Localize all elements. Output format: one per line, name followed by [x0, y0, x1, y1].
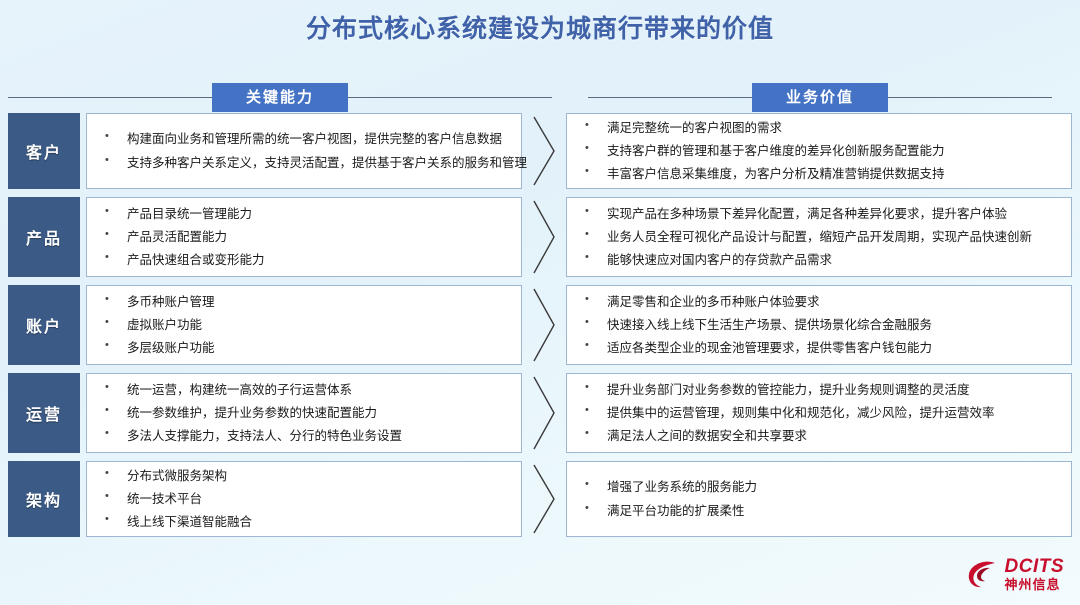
list-item: 产品目录统一管理能力 — [97, 205, 511, 223]
table-row: 产品 产品目录统一管理能力 产品灵活配置能力 产品快速组合或变形能力 实现产品在… — [0, 197, 1080, 277]
list-item: 分布式微服务架构 — [97, 467, 511, 485]
list-item: 产品灵活配置能力 — [97, 228, 511, 246]
chevron-right-icon — [522, 113, 566, 189]
logo-chinese-name: 神州信息 — [1005, 578, 1065, 591]
page-title: 分布式核心系统建设为城商行带来的价值 — [0, 0, 1080, 44]
list-item: 多法人支撑能力，支持法人、分行的特色业务设置 — [97, 427, 511, 445]
row-label-operations: 运营 — [8, 373, 80, 453]
list-item: 增强了业务系统的服务能力 — [577, 478, 1061, 496]
table-row: 运营 统一运营，构建统一高效的子行运营体系 统一参数维护，提升业务参数的快速配置… — [0, 373, 1080, 453]
value-box-account: 满足零售和企业的多币种账户体验要求 快速接入线上线下生活生产场景、提供场景化综合… — [566, 285, 1072, 365]
list-item: 统一参数维护，提升业务参数的快速配置能力 — [97, 404, 511, 422]
logo-wordmark: DCITS 神州信息 — [1005, 557, 1065, 591]
list-item: 提供集中的运营管理，规则集中化和规范化，减少风险，提升运营效率 — [577, 404, 1061, 422]
header-tab-key-capabilities: 关键能力 — [212, 83, 348, 112]
row-label-product: 产品 — [8, 197, 80, 277]
right-column-header: 业务价值 — [560, 82, 1080, 112]
dcits-swirl-icon — [965, 557, 999, 591]
list-item: 业务人员全程可视化产品设计与配置，缩短产品开发周期，实现产品快速创新 — [577, 228, 1061, 246]
capability-box-account: 多币种账户管理 虚拟账户功能 多层级账户功能 — [86, 285, 522, 365]
capability-box-architecture: 分布式微服务架构 统一技术平台 线上线下渠道智能融合 — [86, 461, 522, 537]
company-logo: DCITS 神州信息 — [965, 557, 1065, 591]
value-box-operations: 提升业务部门对业务参数的管控能力，提升业务规则调整的灵活度 提供集中的运营管理，… — [566, 373, 1072, 453]
list-item: 快速接入线上线下生活生产场景、提供场景化综合金融服务 — [577, 316, 1061, 334]
value-list: 实现产品在多种场景下差异化配置，满足各种差异化要求，提升客户体验 业务人员全程可… — [577, 200, 1061, 274]
list-item: 虚拟账户功能 — [97, 316, 511, 334]
chevron-right-icon — [522, 461, 566, 537]
value-box-product: 实现产品在多种场景下差异化配置，满足各种差异化要求，提升客户体验 业务人员全程可… — [566, 197, 1072, 277]
value-list: 满足完整统一的客户视图的需求 支持客户群的管理和基于客户维度的差异化创新服务配置… — [577, 114, 1061, 188]
list-item: 统一运营，构建统一高效的子行运营体系 — [97, 381, 511, 399]
list-item: 满足平台功能的扩展柔性 — [577, 502, 1061, 520]
chevron-right-icon — [522, 373, 566, 453]
list-item: 能够快速应对国内客户的存贷款产品需求 — [577, 251, 1061, 269]
list-item: 多币种账户管理 — [97, 293, 511, 311]
left-column-header: 关键能力 — [0, 82, 560, 112]
list-item: 构建面向业务和管理所需的统一客户视图，提供完整的客户信息数据 — [97, 130, 511, 148]
list-item: 统一技术平台 — [97, 490, 511, 508]
list-item: 适应各类型企业的现金池管理要求，提供零售客户钱包能力 — [577, 339, 1061, 357]
table-row: 客户 构建面向业务和管理所需的统一客户视图，提供完整的客户信息数据 支持多种客户… — [0, 113, 1080, 189]
capability-box-operations: 统一运营，构建统一高效的子行运营体系 统一参数维护，提升业务参数的快速配置能力 … — [86, 373, 522, 453]
chevron-right-icon — [522, 197, 566, 277]
list-item: 满足零售和企业的多币种账户体验要求 — [577, 293, 1061, 311]
capability-value-matrix: 客户 构建面向业务和管理所需的统一客户视图，提供完整的客户信息数据 支持多种客户… — [0, 113, 1080, 545]
list-item: 产品快速组合或变形能力 — [97, 251, 511, 269]
row-label-account: 账户 — [8, 285, 80, 365]
capability-list: 产品目录统一管理能力 产品灵活配置能力 产品快速组合或变形能力 — [97, 200, 511, 274]
list-item: 满足完整统一的客户视图的需求 — [577, 119, 1061, 137]
list-item: 满足法人之间的数据安全和共享要求 — [577, 427, 1061, 445]
list-item: 实现产品在多种场景下差异化配置，满足各种差异化要求，提升客户体验 — [577, 205, 1061, 223]
chevron-right-icon — [522, 285, 566, 365]
capability-box-product: 产品目录统一管理能力 产品灵活配置能力 产品快速组合或变形能力 — [86, 197, 522, 277]
list-item: 多层级账户功能 — [97, 339, 511, 357]
capability-box-customer: 构建面向业务和管理所需的统一客户视图，提供完整的客户信息数据 支持多种客户关系定… — [86, 113, 522, 189]
header-tab-business-value: 业务价值 — [752, 83, 888, 112]
capability-list: 分布式微服务架构 统一技术平台 线上线下渠道智能融合 — [97, 462, 511, 536]
list-item: 支持客户群的管理和基于客户维度的差异化创新服务配置能力 — [577, 142, 1061, 160]
value-list: 增强了业务系统的服务能力 满足平台功能的扩展柔性 — [577, 473, 1061, 524]
row-label-architecture: 架构 — [8, 461, 80, 537]
column-headers: 关键能力 业务价值 — [0, 82, 1080, 112]
list-item: 线上线下渠道智能融合 — [97, 513, 511, 531]
list-item: 支持多种客户关系定义，支持灵活配置，提供基于客户关系的服务和管理 — [97, 154, 511, 172]
capability-list: 构建面向业务和管理所需的统一客户视图，提供完整的客户信息数据 支持多种客户关系定… — [97, 125, 511, 176]
value-box-architecture: 增强了业务系统的服务能力 满足平台功能的扩展柔性 — [566, 461, 1072, 537]
logo-english-name: DCITS — [1005, 557, 1065, 576]
table-row: 账户 多币种账户管理 虚拟账户功能 多层级账户功能 满足零售和企业的多币种账户体… — [0, 285, 1080, 365]
value-list: 提升业务部门对业务参数的管控能力，提升业务规则调整的灵活度 提供集中的运营管理，… — [577, 376, 1061, 450]
list-item: 丰富客户信息采集维度，为客户分析及精准营销提供数据支持 — [577, 165, 1061, 183]
value-box-customer: 满足完整统一的客户视图的需求 支持客户群的管理和基于客户维度的差异化创新服务配置… — [566, 113, 1072, 189]
list-item: 提升业务部门对业务参数的管控能力，提升业务规则调整的灵活度 — [577, 381, 1061, 399]
row-label-customer: 客户 — [8, 113, 80, 189]
capability-list: 统一运营，构建统一高效的子行运营体系 统一参数维护，提升业务参数的快速配置能力 … — [97, 376, 511, 450]
table-row: 架构 分布式微服务架构 统一技术平台 线上线下渠道智能融合 增强了业务系统的服务… — [0, 461, 1080, 537]
value-list: 满足零售和企业的多币种账户体验要求 快速接入线上线下生活生产场景、提供场景化综合… — [577, 288, 1061, 362]
capability-list: 多币种账户管理 虚拟账户功能 多层级账户功能 — [97, 288, 511, 362]
